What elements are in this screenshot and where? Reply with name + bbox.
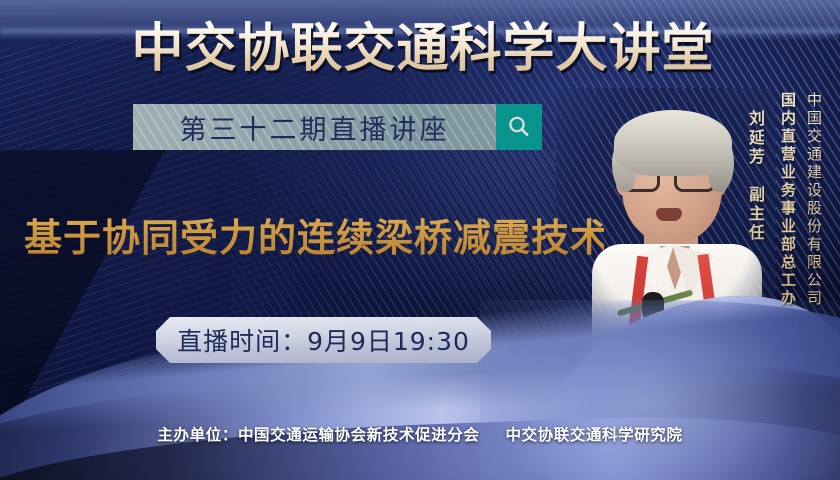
speaker-name-title: 刘延芳 副主任: [736, 92, 764, 342]
speaker-department: 国内直营业务事业部总工办: [772, 92, 796, 342]
episode-banner: 第三十二期直播讲座: [133, 104, 496, 150]
speaker-company: 中国交通建设股份有限公司: [800, 92, 822, 342]
search-button[interactable]: [496, 104, 542, 150]
lecture-title: 基于协同受力的连续梁桥减震技术: [24, 206, 604, 262]
episode-label: 第三十二期直播讲座: [180, 108, 450, 147]
livestream-time-banner: 直播时间：9月9日19:30: [156, 317, 491, 363]
search-icon: [506, 114, 532, 140]
livestream-time-label: 直播时间：9月9日19:30: [177, 322, 470, 358]
live-lecture-poster: 中交协联交通科学大讲堂 第三十二期直播讲座 基于协同受力的连续梁桥减震技术 直播…: [0, 0, 840, 480]
organizer-prefix: 主办单位：: [157, 426, 238, 444]
speaker-credit: 中国交通建设股份有限公司 国内直营业务事业部总工办 刘延芳 副主任: [736, 92, 822, 342]
page-title: 中交协联交通科学大讲堂: [132, 18, 714, 80]
organizer-footer: 主办单位：中国交通运输协会新技术促进分会中交协联交通科学研究院: [0, 423, 840, 445]
speaker-hair: [614, 110, 732, 176]
organizer-name-1: 中国交通运输协会新技术促进分会: [238, 426, 480, 444]
speaker-mouth: [656, 208, 682, 221]
organizer-name-2: 中交协联交通科学研究院: [505, 426, 682, 444]
